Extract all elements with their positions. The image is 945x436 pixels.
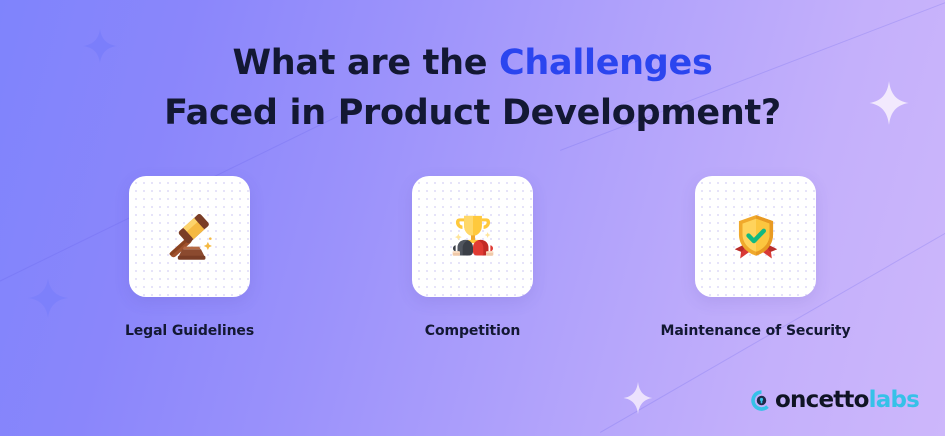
banner-heading: What are the Challenges Faced in Product…	[0, 38, 945, 138]
sparkle-bottom-center-icon	[622, 381, 654, 415]
gavel-icon	[164, 211, 216, 263]
card-tile[interactable]	[129, 176, 250, 297]
card-label: Competition	[425, 323, 520, 339]
card-label: Maintenance of Security	[660, 323, 850, 339]
challenge-card-competition[interactable]: Competition	[412, 176, 533, 339]
heading-line-2: Faced in Product Development?	[0, 88, 945, 138]
heading-line-1-prefix: What are the	[232, 43, 499, 83]
challenge-cards-row: Legal Guidelines	[0, 176, 945, 339]
brand-name-part1: oncetto	[775, 387, 869, 413]
challenge-card-legal-guidelines[interactable]: Legal Guidelines	[129, 176, 250, 339]
card-tile[interactable]	[695, 176, 816, 297]
brand-wordmark: oncettolabs	[775, 388, 919, 413]
trophy-boxing-gloves-icon	[447, 211, 499, 263]
card-label: Legal Guidelines	[125, 323, 254, 339]
brand-name-part2: labs	[869, 387, 919, 413]
heading-accent-word: Challenges	[499, 43, 713, 83]
challenge-card-maintenance-of-security[interactable]: Maintenance of Security	[695, 176, 816, 339]
heading-line-1: What are the Challenges	[0, 38, 945, 88]
challenges-banner: What are the Challenges Faced in Product…	[0, 0, 945, 436]
shield-check-icon	[730, 211, 782, 263]
card-tile[interactable]	[412, 176, 533, 297]
concetto-circle-c-icon	[749, 388, 774, 413]
brand-logo[interactable]: oncettolabs	[749, 386, 919, 414]
